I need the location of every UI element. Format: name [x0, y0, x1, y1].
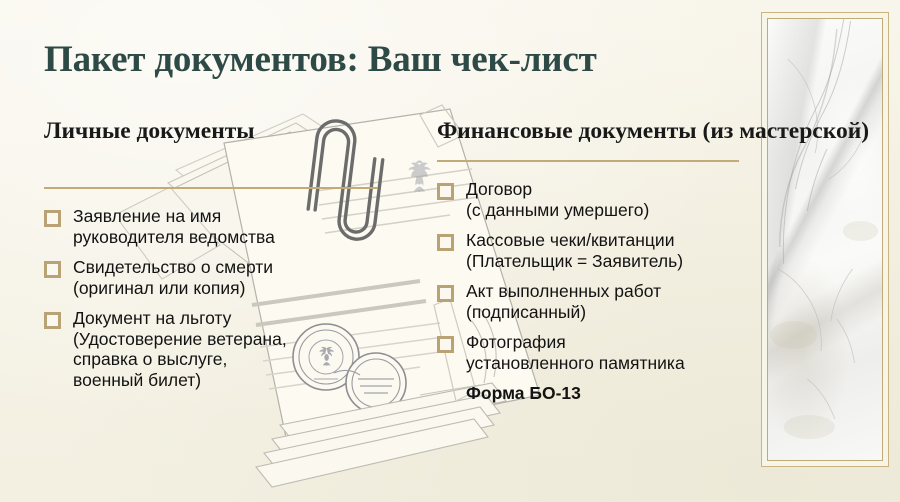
list-item[interactable]: Заявление на имя руководителя ведомства [44, 206, 384, 247]
checklist-personal: Заявление на имя руководителя ведомства … [44, 206, 384, 390]
column-header-line: (из мастерской) [703, 118, 870, 144]
column-financial-documents: Финансовые документы (из мастерской) Дог… [437, 118, 742, 404]
checkbox-icon[interactable] [437, 183, 454, 200]
list-item-label: Акт выполненных работ (подписанный) [466, 281, 661, 322]
list-item[interactable]: Акт выполненных работ (подписанный) [437, 281, 742, 322]
list-item-line: Кассовые чеки/квитанции [466, 230, 683, 250]
checkbox-icon[interactable] [44, 312, 61, 329]
list-item-label: Документ на льготу (Удостоверение ветера… [73, 308, 287, 390]
list-item-line: установленного памятника [466, 353, 685, 373]
list-item-line: справка о выслуге, [73, 349, 287, 369]
checkbox-icon[interactable] [437, 234, 454, 251]
list-item-line: Заявление на имя [73, 206, 275, 226]
page-title: Пакет документов: Ваш чек-лист [44, 38, 597, 81]
note-indent-spacer [437, 383, 466, 404]
list-item-line: (Удостоверение ветерана, [73, 329, 287, 349]
column-header-personal: Личные документы [44, 118, 384, 144]
column-header-line: Личные документы [44, 118, 255, 144]
list-item-line: (Плательщик = Заявитель) [466, 251, 683, 271]
list-item-line: (подписанный) [466, 302, 661, 322]
list-item-line: руководителя ведомства [73, 227, 275, 247]
list-item-line: Свидетельство о смерти [73, 257, 273, 277]
list-item-line: военный билет) [73, 370, 287, 390]
list-item[interactable]: Фотография установленного памятника [437, 332, 742, 373]
list-item-label: Заявление на имя руководителя ведомства [73, 206, 275, 247]
list-item[interactable]: Кассовые чеки/квитанции (Плательщик = За… [437, 230, 742, 271]
list-item[interactable]: Свидетельство о смерти (оригинал или коп… [44, 257, 384, 298]
checkbox-icon[interactable] [437, 285, 454, 302]
list-item[interactable]: Документ на льготу (Удостоверение ветера… [44, 308, 384, 390]
form-note: Форма БО-13 [437, 383, 742, 404]
list-item-label: Кассовые чеки/квитанции (Плательщик = За… [466, 230, 683, 271]
list-item-line: Акт выполненных работ [466, 281, 661, 301]
column-header-financial: Финансовые документы (из мастерской) [437, 118, 742, 144]
list-item-label: Договор (с данными умершего) [466, 179, 649, 220]
list-item-line: Фотография [466, 332, 685, 352]
list-item-line: Документ на льготу [73, 308, 287, 328]
column-divider [44, 187, 378, 189]
list-item-line: (оригинал или копия) [73, 278, 273, 298]
checkbox-icon[interactable] [437, 336, 454, 353]
checkbox-icon[interactable] [44, 210, 61, 227]
column-divider [437, 160, 739, 162]
checklist-financial: Договор (с данными умершего) Кассовые че… [437, 179, 742, 404]
form-note-label: Форма БО-13 [466, 383, 581, 404]
list-item-line: Договор [466, 179, 649, 199]
list-item-label: Свидетельство о смерти (оригинал или коп… [73, 257, 273, 298]
list-item-line: (с данными умершего) [466, 200, 649, 220]
list-item-label: Фотография установленного памятника [466, 332, 685, 373]
checkbox-icon[interactable] [44, 261, 61, 278]
column-personal-documents: Личные документы Заявление на имя руково… [44, 118, 384, 400]
list-item[interactable]: Договор (с данными умершего) [437, 179, 742, 220]
slide-canvas: Пакет документов: Ваш чек-лист Личные до… [0, 0, 900, 502]
column-header-line: Финансовые документы [437, 118, 697, 144]
